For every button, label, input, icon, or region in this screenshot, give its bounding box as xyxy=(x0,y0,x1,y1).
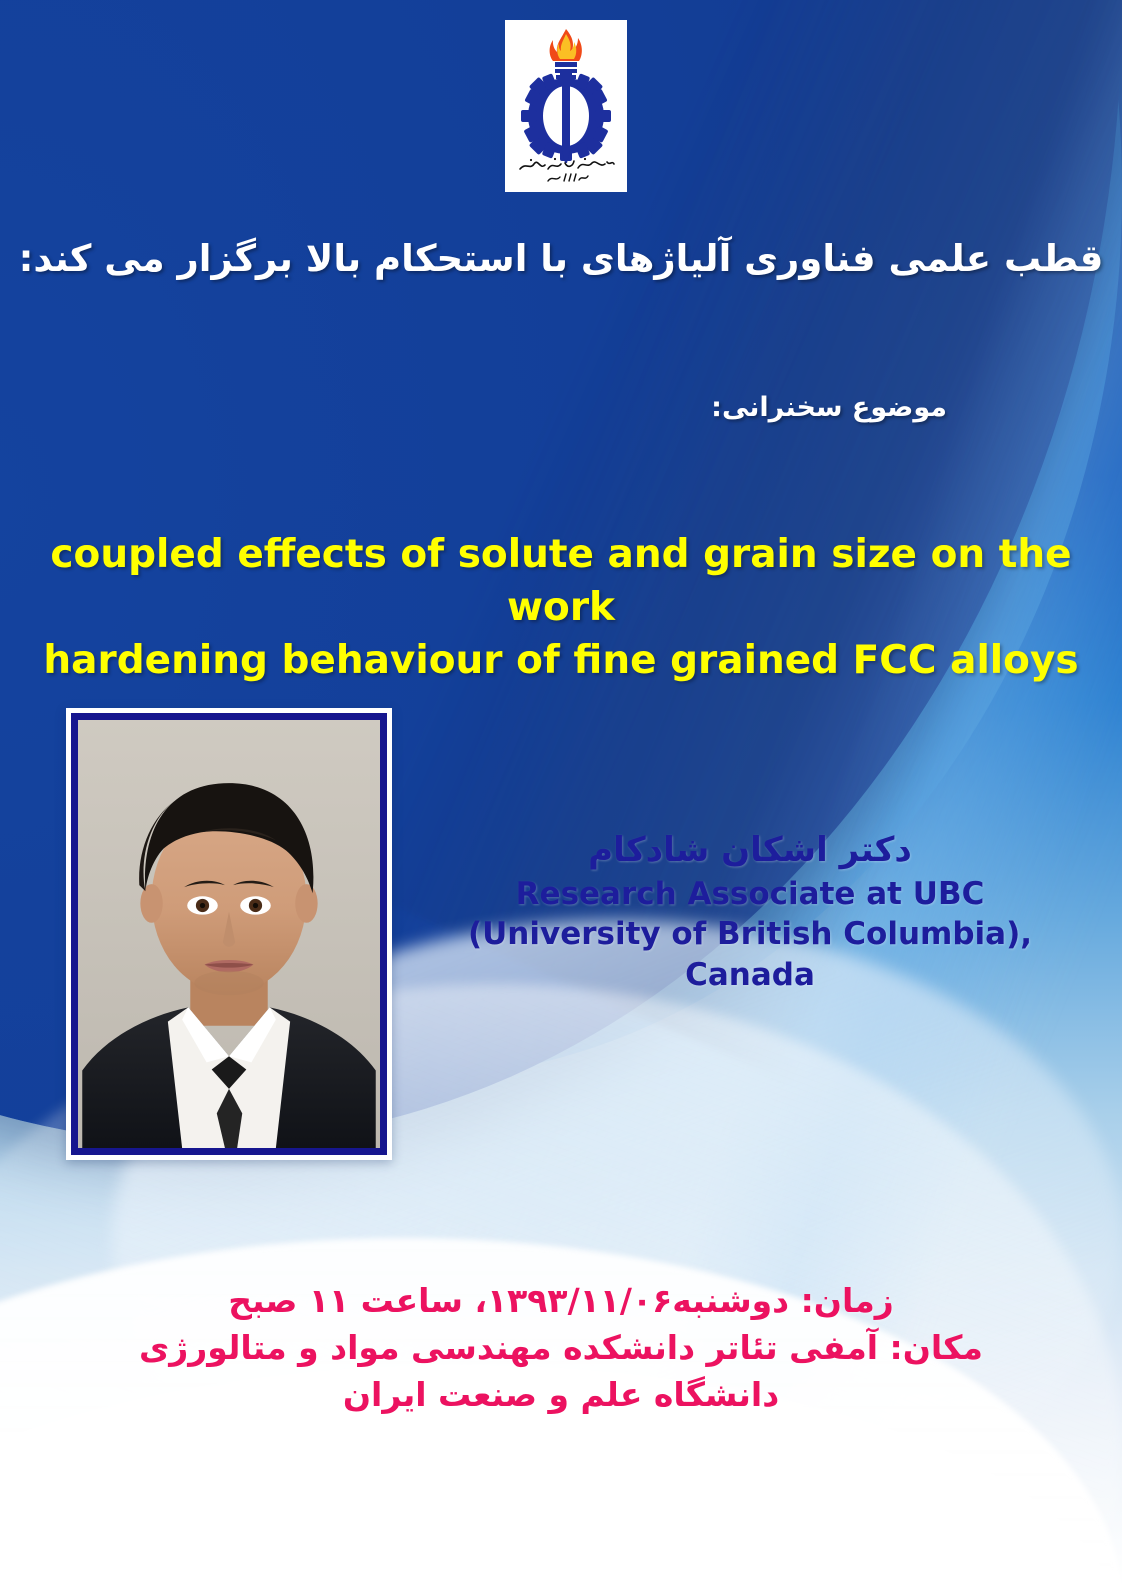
speaker-photo xyxy=(71,713,387,1155)
event-place-line-2: دانشگاه علم و صنعت ایران xyxy=(0,1372,1122,1419)
talk-title-line-2: hardening behaviour of fine grained FCC … xyxy=(36,634,1086,687)
speaker-role-line-2: (University of British Columbia), xyxy=(400,914,1100,954)
speaker-affiliation: Research Associate at UBC (University of… xyxy=(400,874,1100,995)
iust-torch-gear-icon xyxy=(508,23,624,189)
event-time: زمان: دوشنبه۱۳۹۳/۱۱/۰۶، ساعت ۱۱ صبح xyxy=(0,1278,1122,1325)
event-place-line-1: مکان: آمفی تئاتر دانشکده مهندسی مواد و م… xyxy=(0,1325,1122,1372)
speaker-role-line-3: Canada xyxy=(400,955,1100,995)
subject-label: موضوع سخنرانی: xyxy=(711,392,947,423)
speaker-name: دکتر اشکان شادکام xyxy=(400,828,1100,872)
university-logo xyxy=(505,20,627,192)
talk-title-line-1: coupled effects of solute and grain size… xyxy=(36,528,1086,634)
page-title: قطب علمی فناوری آلیاژهای با استحکام بالا… xyxy=(0,236,1122,282)
speaker-photo-frame xyxy=(66,708,392,1160)
poster-canvas: قطب علمی فناوری آلیاژهای با استحکام بالا… xyxy=(0,0,1122,1587)
talk-title: coupled effects of solute and grain size… xyxy=(36,528,1086,687)
portrait-illustration xyxy=(78,720,380,1148)
event-details: زمان: دوشنبه۱۳۹۳/۱۱/۰۶، ساعت ۱۱ صبح مکان… xyxy=(0,1278,1122,1419)
speaker-info: دکتر اشکان شادکام Research Associate at … xyxy=(400,828,1100,995)
speaker-role-line-1: Research Associate at UBC xyxy=(400,874,1100,914)
